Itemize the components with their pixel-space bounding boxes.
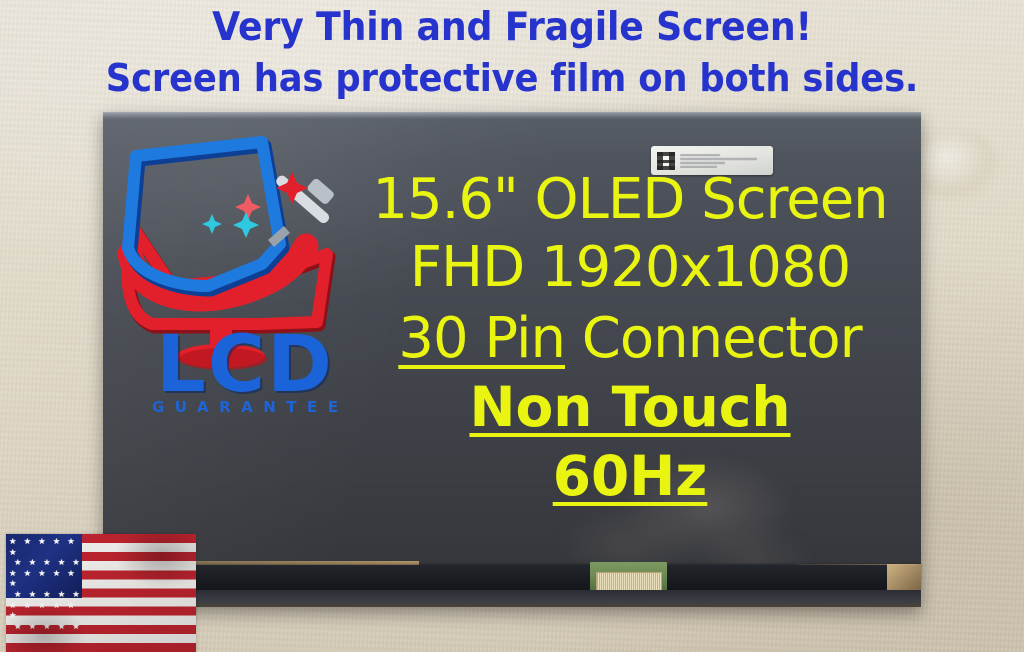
spec-overlay: 15.6" OLED Screen FHD 1920x1080 30 Pin C… [330, 168, 930, 510]
monitor-outline-blue-icon [128, 142, 283, 290]
us-flag-badge: ★ ★ ★ ★ ★ ★ ★ ★ ★ ★ ★ ★ ★ ★ ★ ★ ★ ★ ★ ★ … [6, 534, 196, 652]
flag-weathering [6, 534, 196, 652]
sticker-text-line [680, 162, 725, 164]
spec-line-connector: 30 Pin Connector [330, 305, 930, 373]
panel-bottom-edge [103, 590, 921, 607]
headline-line-1: Very Thin and Fragile Screen! [36, 2, 988, 53]
panel-top-highlight [103, 112, 921, 119]
headline-line-2: Screen has protective film on both sides… [36, 53, 988, 103]
spec-line-resolution: FHD 1920x1080 [330, 232, 930, 305]
panel-bottom-bezel [103, 565, 921, 590]
connector-pins-icon [596, 572, 662, 591]
sticker-text-line [680, 158, 757, 160]
spec-line-size: 15.6" OLED Screen [330, 168, 930, 232]
product-listing-image: LCD GUARANTEE Very Thin and Fragile Scre… [0, 0, 1024, 652]
panel-tape-corner [887, 564, 921, 590]
sticker-text-line [680, 154, 720, 156]
sparkle-icon [202, 172, 308, 238]
spec-line-refresh: 60Hz [330, 442, 930, 510]
spec-line-touch: Non Touch [330, 373, 930, 442]
headline-banner: Very Thin and Fragile Screen! Screen has… [36, 2, 988, 104]
sticker-text-block [680, 154, 767, 168]
spec-connector-pins: 30 Pin [398, 306, 565, 371]
spec-connector-rest: Connector [565, 306, 862, 371]
